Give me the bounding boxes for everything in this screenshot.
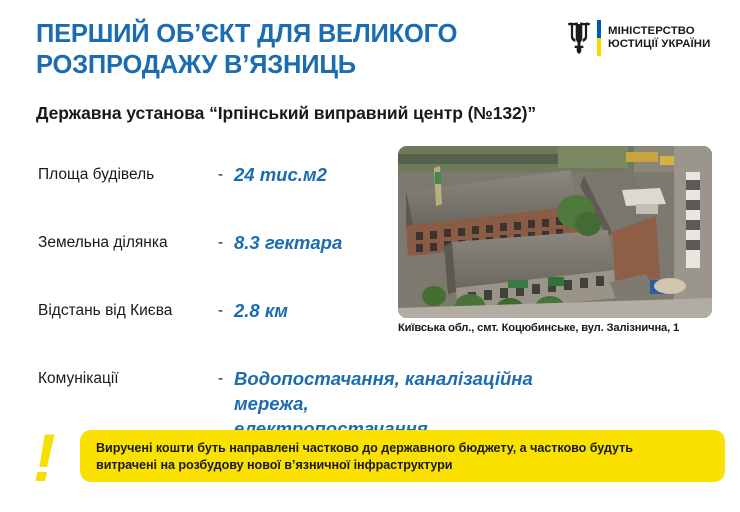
spec-separator: - [218, 166, 223, 184]
page-title: ПЕРШИЙ ОБ’ЄКТ ДЛЯ ВЕЛИКОГО РОЗПРОДАЖУ В’… [36, 19, 536, 81]
callout-banner: Виручені кошти буть направлені частково … [80, 430, 725, 482]
spec-separator: - [218, 302, 223, 320]
spec-row-utilities: Комунікації - Водопостачання, каналізаці… [38, 364, 388, 424]
spec-separator: - [218, 370, 223, 388]
spec-label: Площа будівель [38, 166, 154, 184]
spec-label: Відстань від Києва [38, 302, 172, 320]
presentation-slide: ПЕРШИЙ ОБ’ЄКТ ДЛЯ ВЕЛИКОГО РОЗПРОДАЖУ В’… [0, 0, 740, 512]
ukrainian-trident-icon [566, 21, 592, 55]
spec-label: Комунікації [38, 370, 119, 388]
spec-row-area: Площа будівель - 24 тис.м2 [38, 160, 388, 228]
specifications-list: Площа будівель - 24 тис.м2 Земельна діля… [38, 160, 388, 424]
facility-photo [398, 146, 712, 318]
facility-name: Державна установа “Ірпінський виправний … [36, 103, 536, 124]
spec-row-land: Земельна ділянка - 8.3 гектара [38, 228, 388, 296]
spec-label: Земельна ділянка [38, 234, 168, 252]
spec-separator: - [218, 234, 223, 252]
exclamation-icon: ! [33, 424, 56, 492]
ministry-of-justice-logo: МІНІСТЕРСТВО ЮСТИЦІЇ УКРАЇНИ [566, 17, 710, 59]
callout-text: Виручені кошти буть направлені частково … [96, 440, 711, 474]
spec-row-distance: Відстань від Києва - 2.8 км [38, 296, 388, 364]
ministry-name-label: МІНІСТЕРСТВО ЮСТИЦІЇ УКРАЇНИ [608, 25, 710, 52]
ukrainian-flag-divider [597, 20, 601, 56]
photo-caption: Київська обл., смт. Коцюбинське, вул. За… [398, 322, 728, 334]
aerial-photo-graphic [398, 146, 712, 318]
